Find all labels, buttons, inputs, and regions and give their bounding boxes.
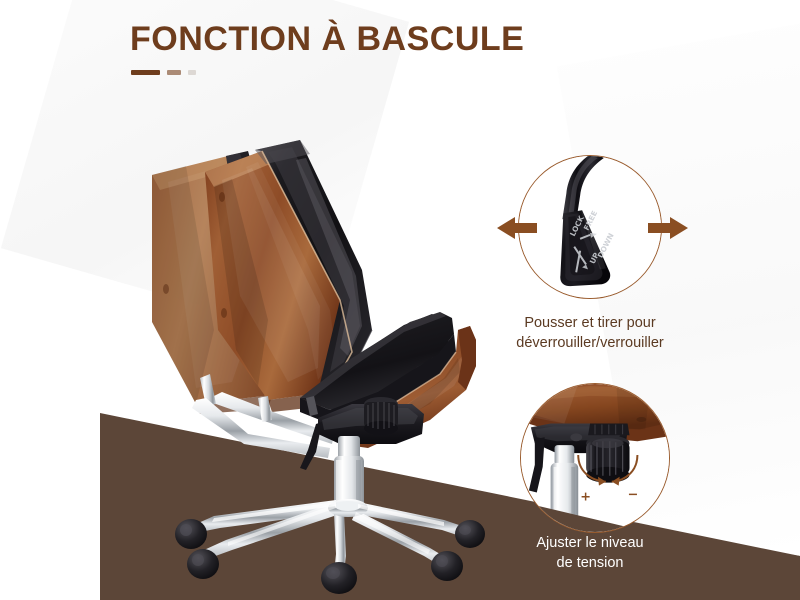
tension-knob-photo: + −	[521, 384, 669, 532]
caption-lever: Pousser et tirer pour déverrouiller/verr…	[470, 313, 710, 353]
divider-dash-1	[131, 70, 160, 75]
caption-lever-line-2: déverrouiller/verrouiller	[470, 333, 710, 353]
office-chair-illustration	[0, 0, 800, 600]
title-divider	[131, 70, 196, 75]
brown-angled-band	[0, 0, 800, 600]
product-feature-slide: FONCTION À BASCULE	[0, 0, 800, 600]
callout-lever-circle: LOCK FREE DOWN UP	[518, 155, 662, 299]
knob-minus-label: −	[628, 487, 639, 502]
caption-tension-knob: Ajuster le niveau de tension	[470, 533, 710, 573]
caption-knob-line-2: de tension	[470, 553, 710, 573]
knob-plus-label: +	[580, 489, 591, 504]
divider-dash-2	[167, 70, 181, 75]
divider-dash-3	[188, 70, 196, 75]
caption-knob-line-1: Ajuster le niveau	[470, 533, 710, 553]
callout-tension-knob-circle: + −	[520, 383, 670, 533]
tilt-lever-photo: LOCK FREE DOWN UP	[519, 156, 661, 298]
page-title: FONCTION À BASCULE	[130, 20, 524, 59]
caption-lever-line-1: Pousser et tirer pour	[470, 313, 710, 333]
